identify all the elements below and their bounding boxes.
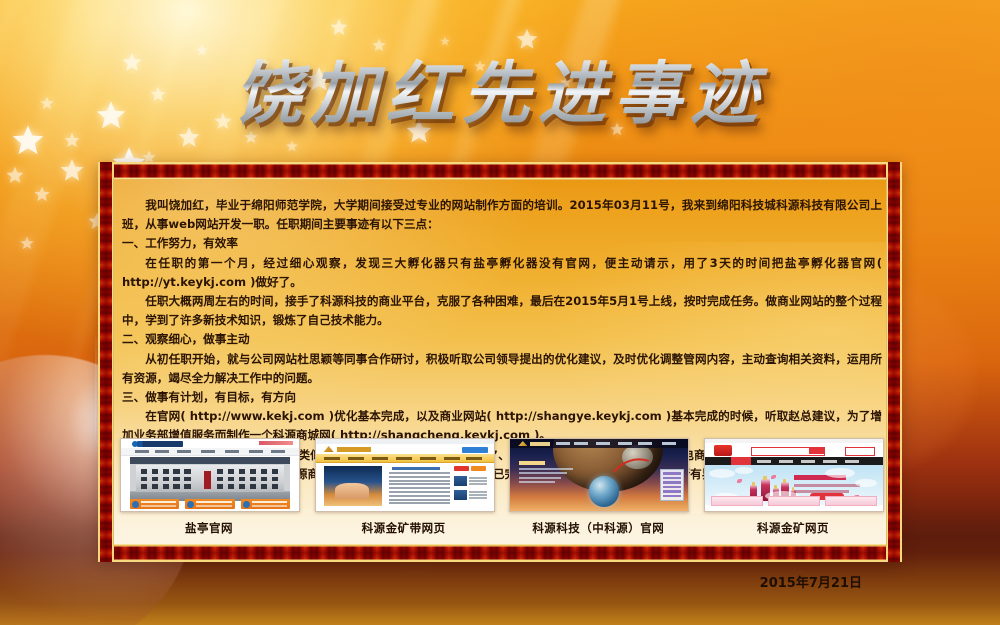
navbar-active-item [731,457,751,465]
building-window [184,469,190,474]
building-window [163,484,169,489]
star-icon [60,158,84,182]
header-action-button [462,447,488,453]
cloud-shape [735,467,753,474]
mountain-logo-icon [518,441,527,446]
building-window [163,469,169,474]
sidebar-button-secondary [471,466,486,471]
feature-card [185,499,234,509]
search-button [809,447,825,454]
screenshot-keyuan-goldmine-mall[interactable] [704,438,884,512]
mountain-logo-icon [324,446,334,452]
building-window [141,469,147,474]
page-title: 饶加红先进事迹 [0,38,1000,137]
building-window [272,484,278,489]
building-window [272,469,278,474]
gold-rail-left [112,178,114,546]
site-logo-text [337,447,371,452]
gallery-item: 科源金矿网页 [704,438,882,538]
gold-rail-top [112,178,888,180]
site-footer [705,507,883,511]
building-window [250,469,256,474]
sidebar-panel [454,466,488,506]
hero-banner [324,466,382,506]
gold-rail-bottom [112,544,888,546]
building-window [261,477,267,482]
ornament-border-right [886,162,902,562]
sidebar-button-primary [454,466,469,471]
building-window [261,484,267,489]
site-hero-photo [130,457,290,501]
gallery-item: 科源金矿带网页 [315,438,493,538]
site-header [705,443,883,457]
building-window [217,484,223,489]
gallery-item: 盐亭官网 [120,438,298,538]
gallery-caption: 盐亭官网 [120,520,298,536]
gallery-caption: 科源科技（中科源）官网 [509,520,687,536]
building-window [173,477,179,482]
star-icon [6,166,24,184]
star-icon [330,18,348,36]
building-window [141,477,147,482]
building-window [217,477,223,482]
gold-rail-right [886,178,888,546]
building-window [152,469,158,474]
promo-card [711,496,763,506]
cloud-shape [855,479,877,487]
building-window [228,477,234,482]
promo-card-row [711,496,877,506]
screenshot-yanting-official-site[interactable] [120,438,300,512]
site-logo-text [137,441,183,447]
building-window [228,469,234,474]
building-window [228,484,234,489]
screenshot-keyuan-tech-official[interactable] [509,438,689,512]
building-window [239,469,245,474]
star-icon [20,236,34,250]
building-window [217,469,223,474]
building-window [239,484,245,489]
signature-date: 2015年7月21日 [760,572,862,591]
building-window [173,469,179,474]
feature-card [241,499,290,509]
article-paragraph: 任职大概两周左右的时间，接手了科源科技的商业平台，克服了各种困难，最后在2015… [122,292,882,330]
building-window [152,477,158,482]
article-paragraph: 一、工作努力，有效率 [122,234,882,253]
building-window [173,484,179,489]
news-list [386,466,454,506]
site-header-contact [259,441,293,445]
building-window [250,477,256,482]
gallery-caption: 科源金矿带网页 [315,520,493,536]
building-window [152,484,158,489]
site-header [316,444,494,454]
star-icon [34,186,50,202]
ornament-border-bottom [98,544,902,562]
building-photo [136,465,283,492]
screenshot-keyuan-goldmine-zone[interactable] [315,438,495,512]
article-paragraph: 从初任职开始，就与公司网站杜思颖等同事合作研讨，积极听取公司领导提出的优化建议，… [122,350,882,388]
building-banner [204,471,211,488]
star-icon [286,140,298,152]
building-window [141,484,147,489]
promo-card [825,496,877,506]
screenshot-gallery: 盐亭官网 [120,438,882,538]
side-widget [660,469,684,501]
building-window [239,477,245,482]
building-window [261,469,267,474]
building-window [250,484,256,489]
gallery-caption: 科源金矿网页 [704,520,882,536]
article-paragraph: 在任职的第一个月，经过细心观察，发现三大孵化器只有盐亭孵化器没有官网，便主动请示… [122,254,882,292]
building-window [272,477,278,482]
site-navbar [316,454,494,463]
news-list-title [392,467,440,470]
petal-shape [737,479,742,483]
site-navbar [121,448,299,456]
poster-canvas: 饶加红先进事迹 2015年7月21日 我叫饶加红，毕业于绵阳师范学院，大学期间接… [0,0,1000,625]
building-window [163,477,169,482]
cart-button [845,447,875,456]
building-window [184,477,190,482]
feature-card [130,499,179,509]
globe-graphic [589,476,619,506]
cloud-shape [709,469,735,478]
site-navbar [510,439,688,448]
article-paragraph: 我叫饶加红，毕业于绵阳师范学院，大学期间接受过专业的网站制作方面的培训。2015… [122,196,882,234]
article-paragraph: 三、做事有计划，有目标，有方向 [122,388,882,407]
hero-copy [519,461,587,486]
site-logo-icon [714,445,732,456]
building-window [184,484,190,489]
site-logo-text [530,442,550,446]
promo-card [768,496,820,506]
article-paragraph: 二、观察细心，做事主动 [122,330,882,349]
feature-card-row [130,499,290,509]
cloud-shape [825,468,855,478]
hero-illustration [335,483,369,499]
gallery-item: 科源科技（中科源）官网 [509,438,687,538]
